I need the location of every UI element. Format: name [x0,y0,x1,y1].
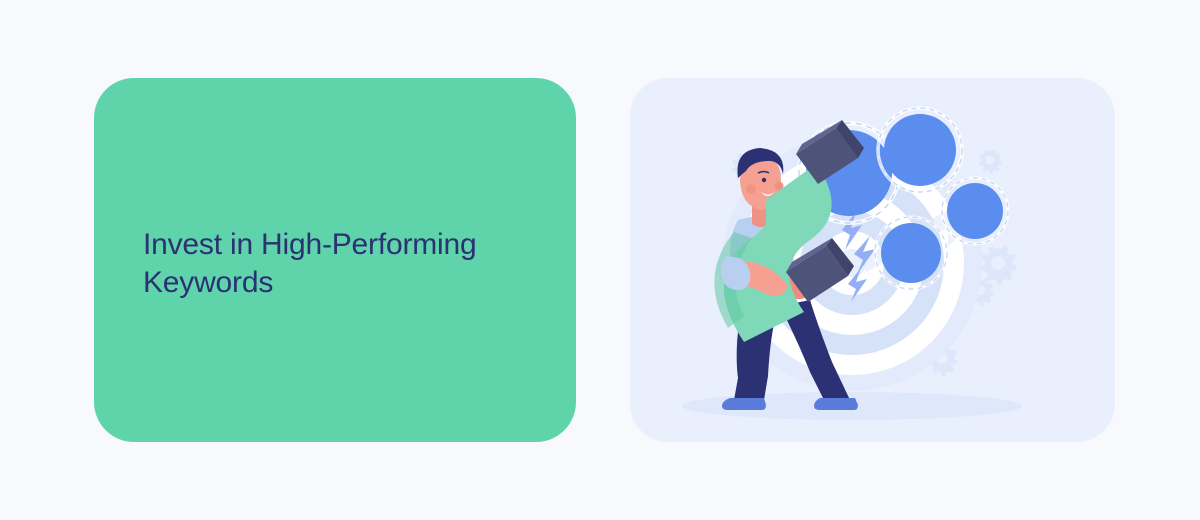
magnet-target-illustration [630,78,1115,442]
avatar-woman-coat [875,217,947,290]
illustration-card [630,78,1115,442]
text-card: Invest in High-Performing Keywords [94,78,576,442]
man-back-shoe [722,398,766,410]
avatar-woman-ponytail [942,178,1008,244]
page-root: Invest in High-Performing Keywords [0,0,1200,520]
man-front-shoe [814,398,858,410]
avatar-bearded-man [878,108,962,192]
page-title: Invest in High-Performing Keywords [143,226,543,302]
